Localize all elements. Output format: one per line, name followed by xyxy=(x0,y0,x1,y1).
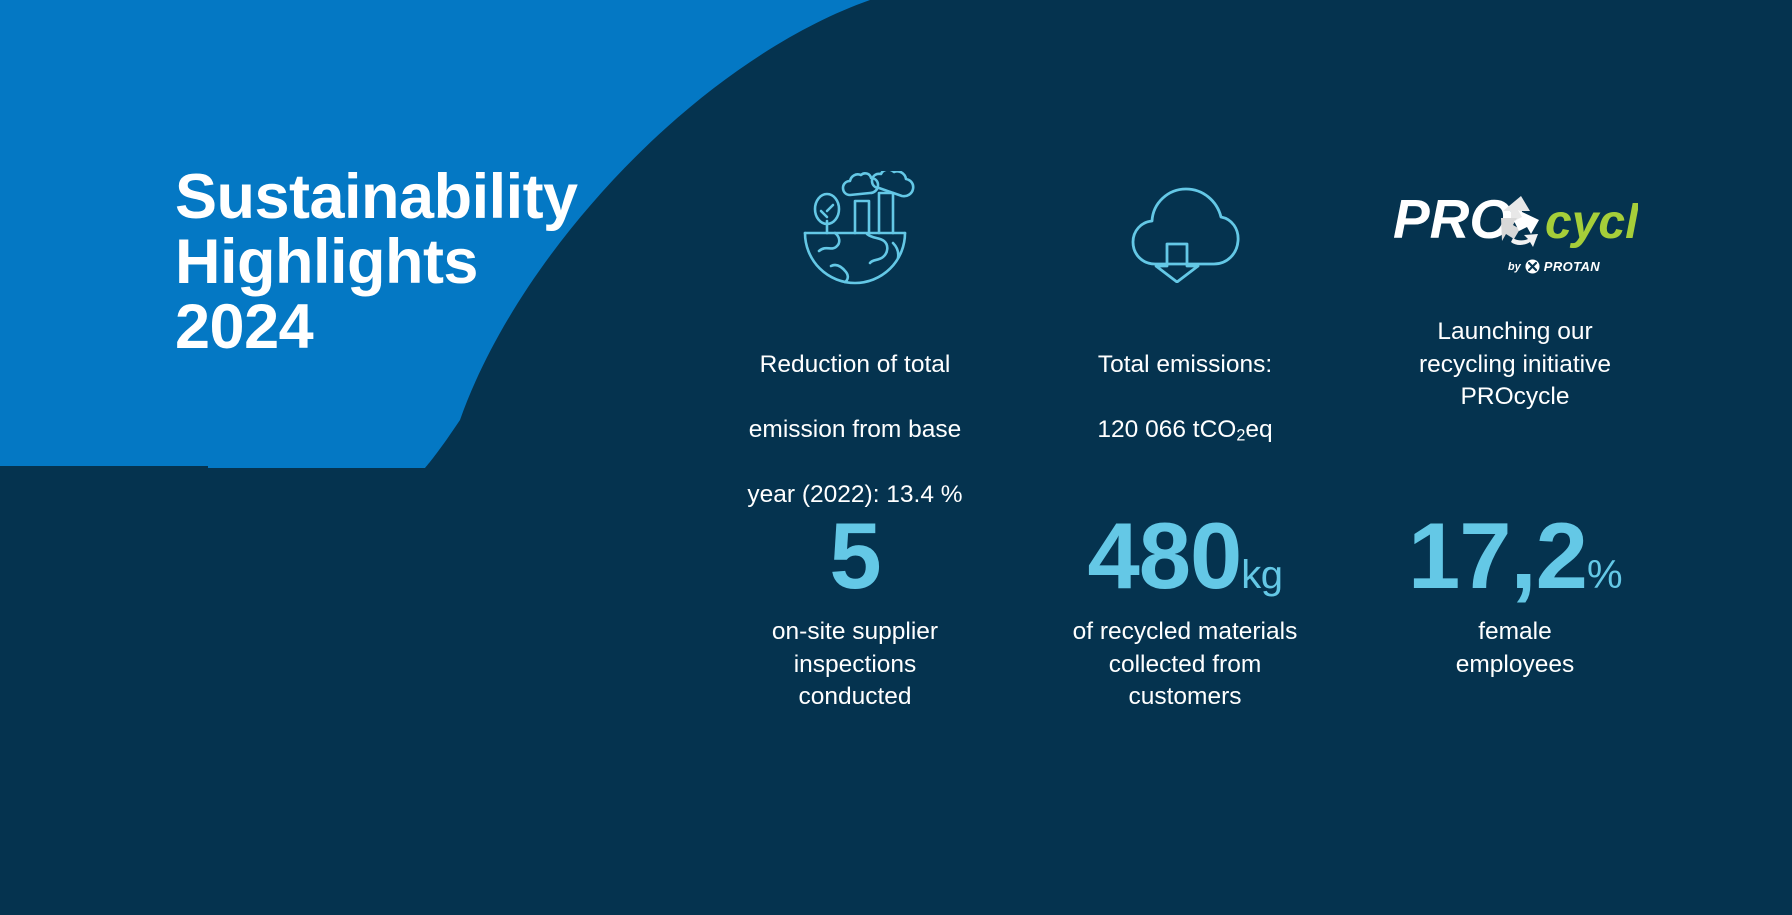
highlight-icon-row: Reduction of total emission from base ye… xyxy=(690,170,1760,511)
caption-line-2-prefix: 120 066 tCO xyxy=(1097,416,1236,443)
procycle-logo: PRO cycle by PROTAN xyxy=(1393,170,1638,290)
stat-caption: on-site supplier inspections conducted xyxy=(772,616,938,714)
stat-caption: female employees xyxy=(1456,616,1574,681)
protan-mark-icon xyxy=(1525,259,1540,274)
procycle-wordmark: PRO cycle xyxy=(1393,186,1638,258)
stat-card-recycled-materials: 480 kg of recycled materials collected f… xyxy=(1020,500,1350,714)
highlight-caption-total-emissions: Total emissions: 120 066 tCO2eq xyxy=(1097,316,1272,447)
highlight-card-total-emissions: Total emissions: 120 066 tCO2eq xyxy=(1020,170,1350,447)
stat-caption: of recycled materials collected from cus… xyxy=(1073,616,1298,714)
procycle-pro-text: PRO xyxy=(1393,188,1512,250)
caption-line-2-suffix: eq xyxy=(1245,416,1272,443)
highlight-caption-procycle: Launching our recycling initiative PROcy… xyxy=(1419,316,1611,414)
caption-line-1: Total emissions: xyxy=(1098,351,1272,378)
stat-number: 480 xyxy=(1087,511,1241,600)
statistics-row: 5 on-site supplier inspections conducted… xyxy=(690,500,1760,714)
highlight-card-emission-reduction: Reduction of total emission from base ye… xyxy=(690,170,1020,511)
caption-line-2: emission from base xyxy=(749,416,961,443)
byline-protan-text: PROTAN xyxy=(1544,259,1600,274)
procycle-cycle-text: cycle xyxy=(1545,196,1638,249)
procycle-byline: by PROTAN xyxy=(1508,259,1600,274)
cloud-download-arrow-icon xyxy=(1125,170,1245,290)
stat-unit: % xyxy=(1587,556,1622,600)
caption-subscript: 2 xyxy=(1236,426,1245,444)
stat-value-group: 480 kg xyxy=(1087,500,1282,600)
page-title: Sustainability Highlights 2024 xyxy=(175,165,578,360)
highlight-card-procycle: PRO cycle by PROTAN Launch xyxy=(1350,170,1680,414)
stat-value-group: 5 xyxy=(829,500,880,600)
stat-card-female-employees: 17,2 % female employees xyxy=(1350,500,1680,681)
highlight-caption-emission-reduction: Reduction of total emission from base ye… xyxy=(747,316,962,511)
stat-value-group: 17,2 % xyxy=(1408,500,1622,600)
stat-unit: kg xyxy=(1241,556,1282,600)
stat-number: 5 xyxy=(829,511,880,600)
stat-number: 17,2 xyxy=(1408,511,1587,600)
byline-by-text: by xyxy=(1508,261,1521,273)
caption-line-1: Reduction of total xyxy=(760,351,951,378)
globe-factory-emissions-icon xyxy=(793,170,918,290)
stat-card-supplier-inspections: 5 on-site supplier inspections conducted xyxy=(690,500,1020,714)
